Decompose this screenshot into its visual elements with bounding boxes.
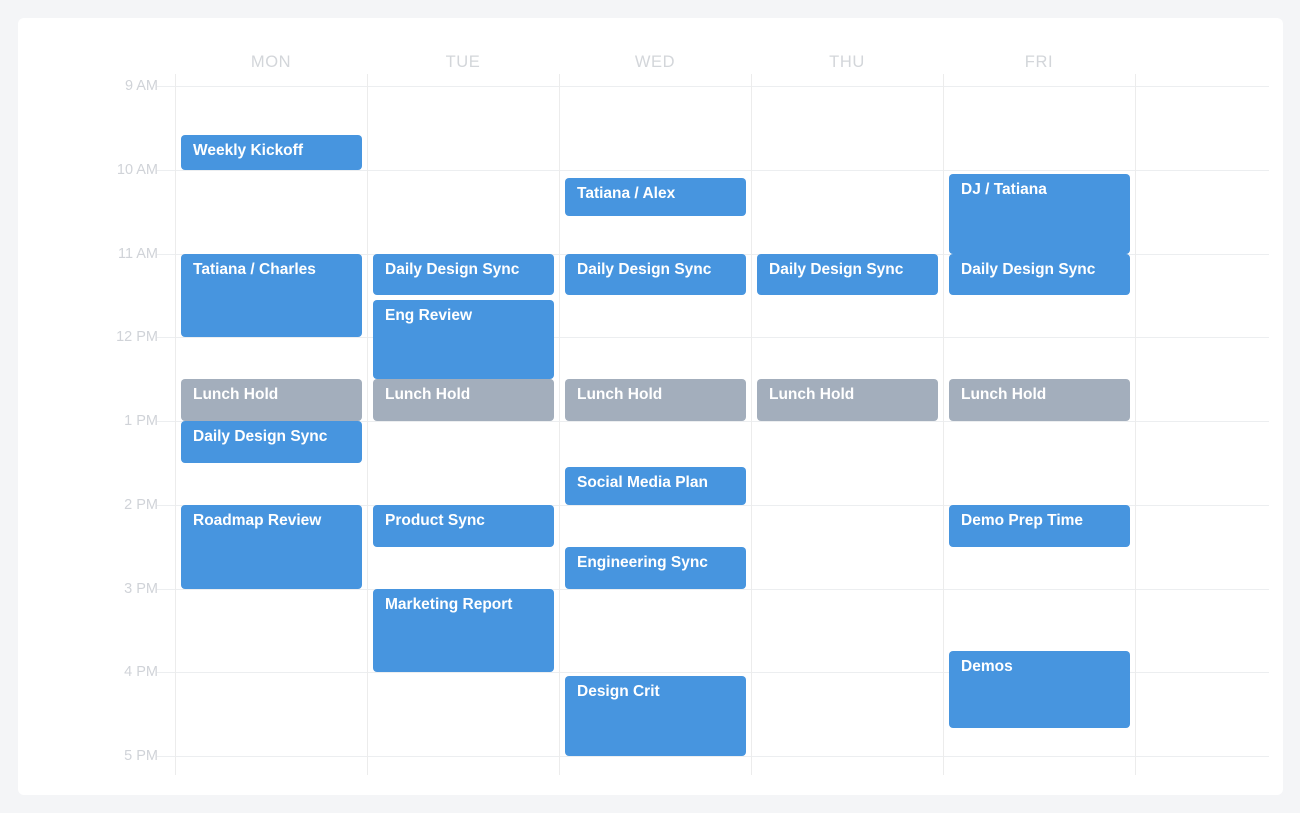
time-label: 5 PM (18, 748, 158, 764)
hour-gridline (157, 170, 1269, 171)
column-gridline (751, 74, 752, 775)
time-label: 12 PM (18, 329, 158, 345)
time-label: 9 AM (18, 78, 158, 94)
calendar-event[interactable]: Weekly Kickoff (181, 135, 362, 170)
calendar-event[interactable]: Engineering Sync (565, 547, 746, 589)
time-label: 11 AM (18, 246, 158, 262)
calendar-event[interactable]: Lunch Hold (757, 379, 938, 421)
calendar-grid: 9 AM10 AM11 AM12 PM1 PM2 PM3 PM4 PM5 PMM… (18, 18, 1283, 795)
calendar-event[interactable]: Product Sync (373, 505, 554, 547)
calendar-event[interactable]: Daily Design Sync (949, 254, 1130, 296)
calendar-event[interactable]: Demos (949, 651, 1130, 728)
calendar-event[interactable]: Daily Design Sync (757, 254, 938, 296)
column-gridline (559, 74, 560, 775)
time-label: 3 PM (18, 581, 158, 597)
column-gridline (175, 74, 176, 775)
calendar-event[interactable]: Lunch Hold (565, 379, 746, 421)
column-gridline (1135, 74, 1136, 775)
calendar-event[interactable]: Lunch Hold (181, 379, 362, 421)
day-header-mon[interactable]: MON (175, 50, 367, 74)
calendar-card: 9 AM10 AM11 AM12 PM1 PM2 PM3 PM4 PM5 PMM… (18, 18, 1283, 795)
day-header-thu[interactable]: THU (751, 50, 943, 74)
calendar-event[interactable]: Tatiana / Charles (181, 254, 362, 338)
calendar-event[interactable]: Roadmap Review (181, 505, 362, 589)
time-label: 2 PM (18, 497, 158, 513)
calendar-event[interactable]: Eng Review (373, 300, 554, 380)
calendar-event[interactable]: DJ / Tatiana (949, 174, 1130, 254)
calendar-event[interactable]: Marketing Report (373, 589, 554, 673)
calendar-event[interactable]: Lunch Hold (373, 379, 554, 421)
time-label: 10 AM (18, 162, 158, 178)
day-header-fri[interactable]: FRI (943, 50, 1135, 74)
day-header-tue[interactable]: TUE (367, 50, 559, 74)
calendar-event[interactable]: Daily Design Sync (565, 254, 746, 296)
calendar-event[interactable]: Demo Prep Time (949, 505, 1130, 547)
column-gridline (943, 74, 944, 775)
calendar-event[interactable]: Social Media Plan (565, 467, 746, 505)
day-header-wed[interactable]: WED (559, 50, 751, 74)
calendar-event[interactable]: Lunch Hold (949, 379, 1130, 421)
time-label: 1 PM (18, 413, 158, 429)
calendar-event[interactable]: Daily Design Sync (373, 254, 554, 296)
hour-gridline (157, 86, 1269, 87)
hour-gridline (157, 756, 1269, 757)
calendar-event[interactable]: Daily Design Sync (181, 421, 362, 463)
calendar-event[interactable]: Design Crit (565, 676, 746, 756)
time-label: 4 PM (18, 664, 158, 680)
hour-gridline (157, 337, 1269, 338)
column-gridline (367, 74, 368, 775)
hour-gridline (157, 589, 1269, 590)
calendar-event[interactable]: Tatiana / Alex (565, 178, 746, 216)
